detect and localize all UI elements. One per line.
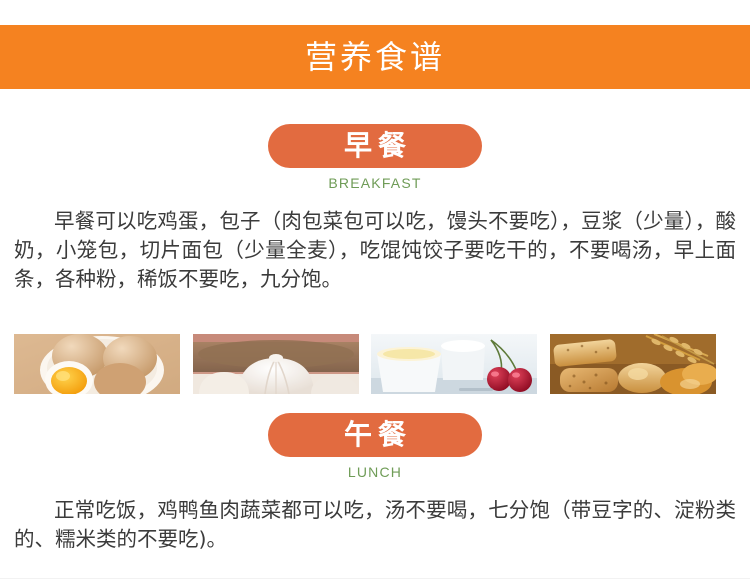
section-body-breakfast: 早餐可以吃鸡蛋，包子（肉包菜包可以吃，馒头不要吃），豆浆（少量），酸奶，小笼包，… [14,207,736,294]
section-body-lunch: 正常吃饭，鸡鸭鱼肉蔬菜都可以吃，汤不要喝，七分饱（带豆字的、淀粉类的、糯米类的不… [14,496,736,554]
baozi-photo [193,334,359,394]
section-subtitle-breakfast: BREAKFAST [328,175,421,191]
section-pill-breakfast[interactable]: 早餐 [268,124,482,168]
bottom-divider [0,578,750,579]
section-header-lunch: 午餐 LUNCH [0,413,750,480]
eggs-photo [14,334,180,394]
page-title: 营养食谱 [305,41,445,73]
bread-wheat-photo [550,334,716,394]
section-pill-label-breakfast: 早餐 [338,132,412,160]
yogurt-cherries-photo [371,334,537,394]
section-header-breakfast: 早餐 BREAKFAST [0,124,750,191]
photo-strip-breakfast [14,334,716,394]
section-subtitle-lunch: LUNCH [348,464,402,480]
section-pill-lunch[interactable]: 午餐 [268,413,482,457]
page-header-banner: 营养食谱 [0,25,750,89]
section-pill-label-lunch: 午餐 [338,421,412,449]
